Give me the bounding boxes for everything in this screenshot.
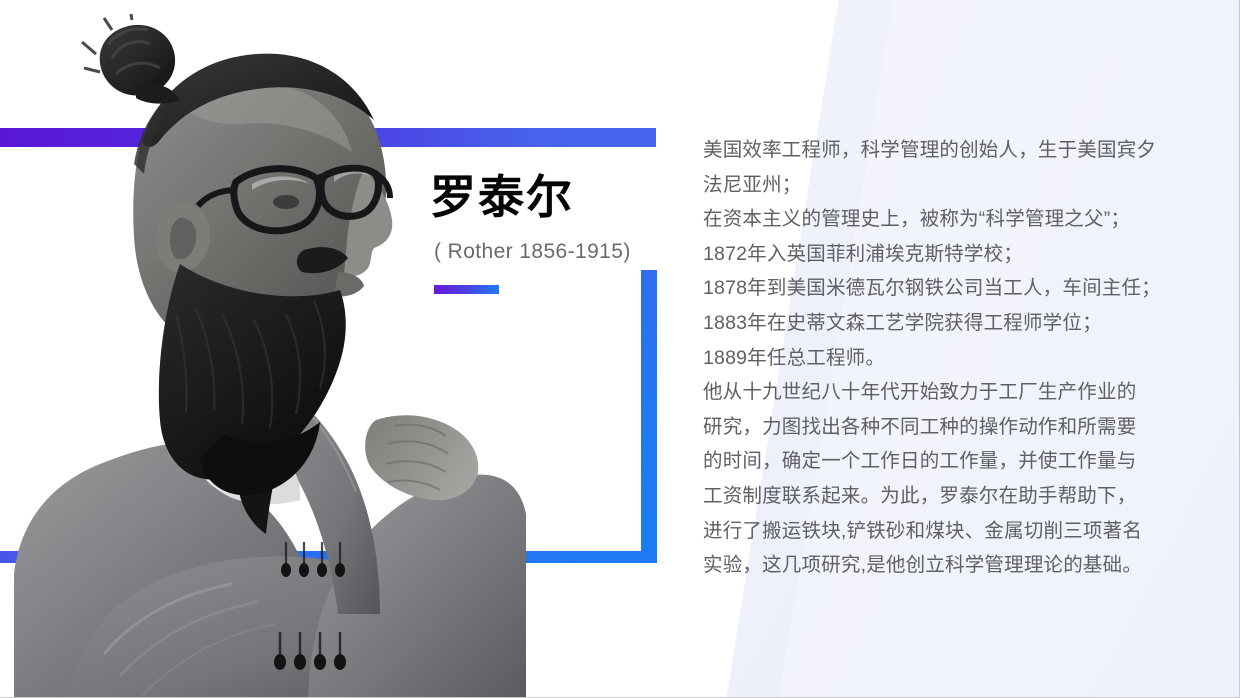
body-line: 研究，力图找出各种不同工种的操作动作和所需要: [703, 410, 1195, 445]
top-gradient-bar: [0, 128, 656, 147]
body-line: 的时间，确定一个工作日的工作量，并使工作量与: [703, 444, 1195, 479]
bottom-gradient-bar: [0, 551, 657, 563]
body-line: 1878年到美国米德瓦尔钢铁公司当工人，车间主任；: [703, 271, 1195, 306]
page-title: 罗泰尔: [430, 172, 690, 224]
right-vertical-bar: [641, 270, 657, 563]
slide-canvas: 罗泰尔 ( Rother 1856-1915) 美国效率工程师，科学管理的创始人…: [0, 0, 1240, 698]
portrait-photo: [8, 14, 528, 698]
body-line: 他从十九世纪八十年代开始致力于工厂生产作业的: [703, 375, 1195, 410]
body-line: 1872年入英国菲利浦埃克斯特学校；: [703, 237, 1195, 272]
body-line: 法尼亚州；: [703, 168, 1195, 203]
body-line: 1889年任总工程师。: [703, 341, 1195, 376]
body-line: 1883年在史蒂文森工艺学院获得工程师学位；: [703, 306, 1195, 341]
body-line: 在资本主义的管理史上，被称为“科学管理之父”；: [703, 202, 1195, 237]
name-subtitle: ( Rother 1856-1915): [434, 240, 690, 264]
title-underline-bar: [434, 285, 499, 294]
body-line: 进行了搬运铁块,铲铁砂和煤块、金属切削三项著名: [703, 514, 1195, 549]
name-block: 罗泰尔 ( Rother 1856-1915): [430, 172, 690, 264]
body-line: 工资制度联系起来。为此，罗泰尔在助手帮助下，: [703, 479, 1195, 514]
body-line: 美国效率工程师，科学管理的创始人，生于美国宾夕: [703, 133, 1195, 168]
body-line: 实验，这几项研究,是他创立科学管理理论的基础。: [703, 548, 1195, 583]
biography-text: 美国效率工程师，科学管理的创始人，生于美国宾夕 法尼亚州； 在资本主义的管理史上…: [703, 133, 1195, 583]
